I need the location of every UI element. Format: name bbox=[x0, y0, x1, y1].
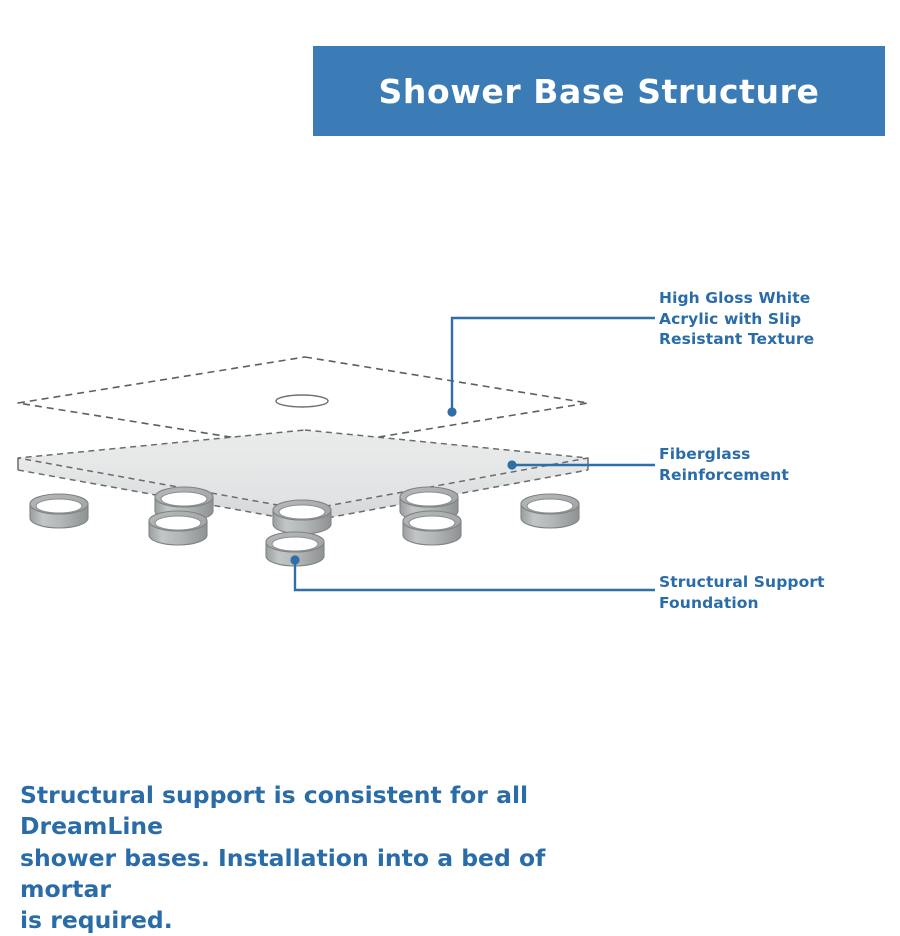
ring-inner-bore bbox=[161, 492, 207, 506]
leader-line-support bbox=[290, 555, 655, 590]
callout-label-support: Structural Support Foundation bbox=[659, 572, 825, 613]
leader-endpoint-dot bbox=[290, 555, 299, 564]
callout-label-acrylic: High Gloss White Acrylic with Slip Resis… bbox=[659, 288, 814, 350]
support-ring bbox=[273, 500, 331, 534]
support-ring bbox=[403, 511, 461, 545]
leader-endpoint-dot bbox=[447, 407, 456, 416]
ring-inner-bore bbox=[527, 499, 573, 513]
slab-top-face bbox=[18, 430, 588, 510]
ring-inner-bore bbox=[409, 516, 455, 530]
leader-path bbox=[452, 318, 655, 412]
leader-path bbox=[295, 560, 655, 590]
leader-endpoint-dot bbox=[507, 460, 516, 469]
footer-caption: Structural support is consistent for all… bbox=[20, 780, 620, 936]
ring-inner-bore bbox=[36, 499, 82, 513]
ring-inner-bore bbox=[272, 537, 318, 551]
drain-opening-icon bbox=[276, 395, 328, 407]
support-ring bbox=[521, 494, 579, 528]
callout-label-fiberglass: Fiberglass Reinforcement bbox=[659, 444, 789, 485]
ring-inner-bore bbox=[279, 505, 325, 519]
title-banner: Shower Base Structure bbox=[313, 46, 885, 136]
page-title: Shower Base Structure bbox=[379, 72, 820, 111]
support-ring bbox=[30, 494, 88, 528]
support-ring bbox=[149, 511, 207, 545]
ring-inner-bore bbox=[155, 516, 201, 530]
ring-inner-bore bbox=[406, 492, 452, 506]
leader-line-acrylic bbox=[447, 318, 655, 417]
